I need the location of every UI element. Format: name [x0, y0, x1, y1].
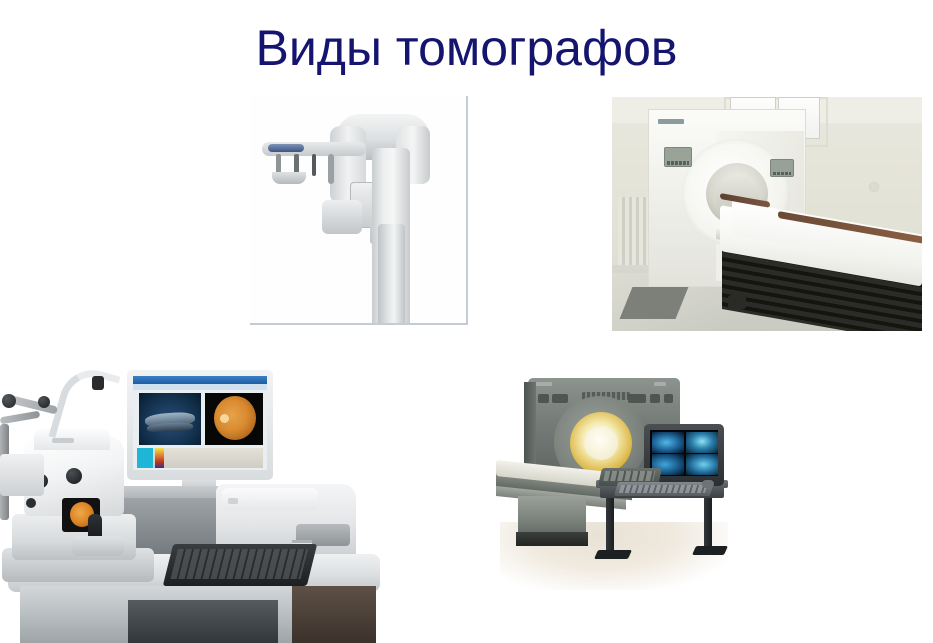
- manufacturer-logo: [658, 119, 684, 124]
- optic-disc: [220, 414, 229, 423]
- console-desk-leg: [606, 498, 614, 556]
- console-keyboard[interactable]: [614, 482, 714, 496]
- oct-side-shelf: [0, 454, 44, 496]
- software-toolbar: [133, 384, 267, 390]
- printer-button[interactable]: [228, 498, 238, 504]
- ct-scanner-console-photo: [496, 372, 728, 590]
- instrument-table-cabinet: [292, 586, 376, 643]
- retina-layer: [147, 422, 193, 433]
- radiator: [618, 197, 648, 265]
- table-caster: [728, 295, 746, 309]
- gantry-indicator-slot: [664, 394, 673, 403]
- dental-base-riser: [350, 324, 432, 325]
- page-title: Виды томографов: [0, 18, 933, 78]
- dental-column-carriage: [378, 224, 405, 325]
- presentation-slide: Виды томографов: [0, 0, 933, 643]
- console-mouse[interactable]: [702, 480, 714, 488]
- console-desk-foot: [692, 546, 728, 555]
- oct-arm-joint-knob[interactable]: [2, 394, 16, 408]
- gantry-display-panel: [770, 159, 794, 177]
- ct-scan-image-quadrant: [686, 454, 718, 475]
- software-colormap-bar: [155, 448, 164, 468]
- wall-outlet: [870, 183, 878, 191]
- dental-control-panel: [268, 144, 304, 152]
- patient-table-foot: [516, 532, 588, 546]
- oct-arm-joint-knob[interactable]: [38, 396, 50, 408]
- ct-scanner-room-photo: [612, 97, 922, 331]
- oct-cross-section-scan: [139, 393, 201, 445]
- dental-head-holder: [322, 200, 362, 234]
- computer-keyboard[interactable]: [163, 544, 317, 586]
- software-title-bar: [133, 376, 267, 384]
- gantry-indicator-slot: [538, 394, 549, 403]
- software-color-swatch: [137, 448, 153, 468]
- dental-support-hook: [328, 154, 334, 184]
- ct-scan-image-quadrant: [652, 432, 684, 453]
- ct-bore-aperture: [584, 426, 618, 460]
- retinal-fundus-image: [214, 396, 256, 440]
- oct-objective-lens: [66, 468, 82, 484]
- gantry-indicator-slot: [552, 394, 568, 403]
- oct-joystick-base: [72, 536, 124, 556]
- dental-panoramic-tomograph-photo: [250, 96, 468, 325]
- manufacturer-logo: [536, 382, 552, 386]
- oct-adjustment-knob[interactable]: [26, 498, 36, 508]
- ct-scan-image-quadrant: [686, 432, 718, 453]
- oct-forehead-rest: [92, 376, 104, 390]
- dental-support-hook: [312, 154, 316, 176]
- optical-coherence-tomograph-photo: [0, 358, 386, 643]
- gantry-display-panel: [664, 147, 692, 167]
- gantry-indicator-slot: [628, 394, 646, 403]
- console-desk-leg: [704, 498, 712, 552]
- instrument-table-shadow: [128, 600, 278, 643]
- model-label: [654, 382, 666, 386]
- gantry-indicator-slot: [650, 394, 660, 403]
- console-desk-foot: [594, 550, 632, 559]
- dental-chin-rest: [272, 172, 306, 184]
- photo-canvas: [250, 96, 466, 323]
